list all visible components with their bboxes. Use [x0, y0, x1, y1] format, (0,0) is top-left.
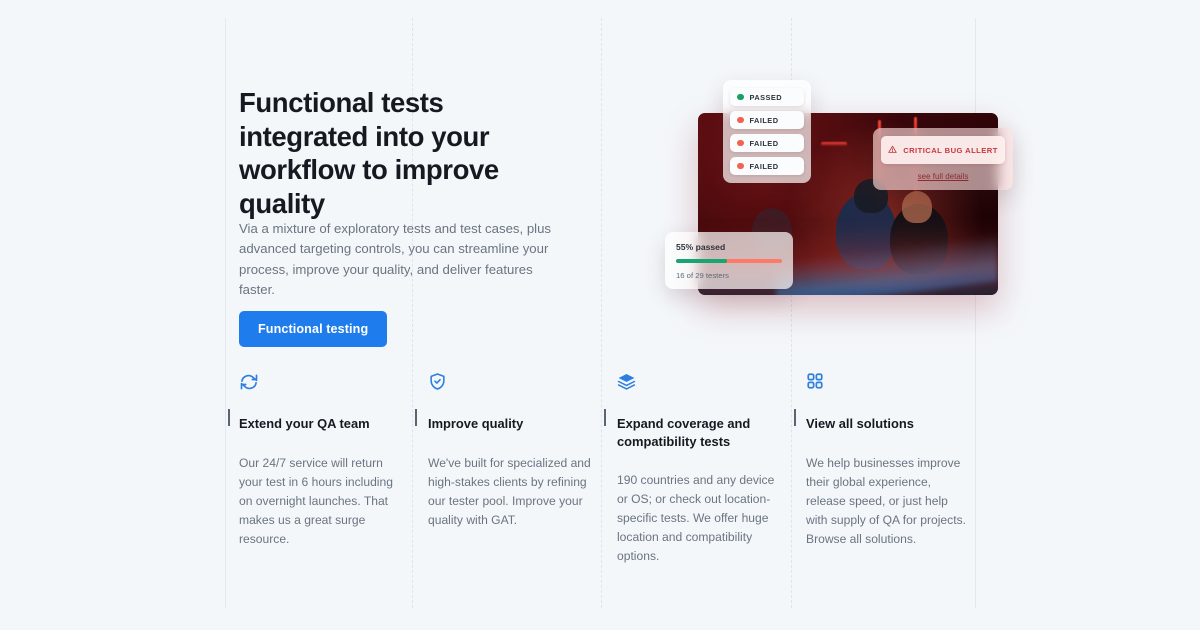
column-rule-2 — [601, 18, 602, 608]
alert-banner: CRITICAL BUG ALLERT — [881, 136, 1005, 164]
status-dot — [737, 140, 744, 147]
feature-tick-1 — [228, 409, 230, 426]
feature-card-expand-coverage[interactable]: Expand coverage and compatibility tests … — [617, 372, 780, 567]
hero-description: Via a mixture of exploratory tests and t… — [239, 219, 569, 300]
pass-rate-card: 55% passed 16 of 29 testers — [665, 232, 793, 289]
feature-body: Our 24/7 service will return your test i… — [239, 454, 402, 549]
feature-title: Improve quality — [428, 415, 591, 433]
pass-rate-progress-bar — [676, 259, 782, 263]
see-full-details-link[interactable]: see full details — [881, 172, 1005, 181]
feature-card-improve-quality[interactable]: Improve quality We've built for speciali… — [428, 372, 591, 530]
feature-body: We help businesses improve their global … — [806, 454, 969, 549]
feature-tick-4 — [794, 409, 796, 426]
layers-stack-icon — [617, 372, 780, 394]
status-pill: FAILED — [730, 111, 804, 129]
status-label: FAILED — [750, 162, 779, 171]
status-dot — [737, 117, 744, 124]
status-label: FAILED — [750, 139, 779, 148]
warning-triangle-icon — [888, 141, 897, 159]
critical-bug-alert-card: CRITICAL BUG ALLERT see full details — [873, 128, 1013, 190]
status-dot — [737, 94, 744, 101]
pass-rate-title: 55% passed — [676, 242, 782, 252]
alert-title: CRITICAL BUG ALLERT — [903, 146, 998, 155]
grid-squares-icon — [806, 372, 969, 394]
shield-check-icon — [428, 372, 591, 394]
status-label: FAILED — [750, 116, 779, 125]
status-label: PASSED — [750, 93, 783, 102]
pass-rate-progress-fill — [676, 259, 727, 263]
feature-card-extend-qa-team[interactable]: Extend your QA team Our 24/7 service wil… — [239, 372, 402, 549]
feature-title: Expand coverage and compatibility tests — [617, 415, 780, 450]
test-status-list: PASSED FAILED FAILED FAILED — [723, 80, 811, 183]
status-pill: PASSED — [730, 88, 804, 106]
page-root: Functional tests integrated into your wo… — [0, 0, 1200, 630]
feature-card-view-all-solutions[interactable]: View all solutions We help businesses im… — [806, 372, 969, 549]
feature-tick-3 — [604, 409, 606, 426]
feature-body: We've built for specialized and high-sta… — [428, 454, 591, 530]
refresh-sync-icon — [239, 372, 402, 394]
functional-testing-button[interactable]: Functional testing — [239, 311, 387, 347]
feature-title: View all solutions — [806, 415, 969, 433]
feature-body: 190 countries and any device or OS; or c… — [617, 471, 780, 566]
status-dot — [737, 163, 744, 170]
status-pill: FAILED — [730, 157, 804, 175]
page-title: Functional tests integrated into your wo… — [239, 86, 579, 220]
feature-title: Extend your QA team — [239, 415, 402, 433]
hero-visual: PASSED FAILED FAILED FAILED — [665, 80, 1025, 325]
pass-rate-note: 16 of 29 testers — [676, 271, 782, 280]
column-rule-left — [225, 18, 226, 608]
feature-tick-2 — [415, 409, 417, 426]
status-pill: FAILED — [730, 134, 804, 152]
